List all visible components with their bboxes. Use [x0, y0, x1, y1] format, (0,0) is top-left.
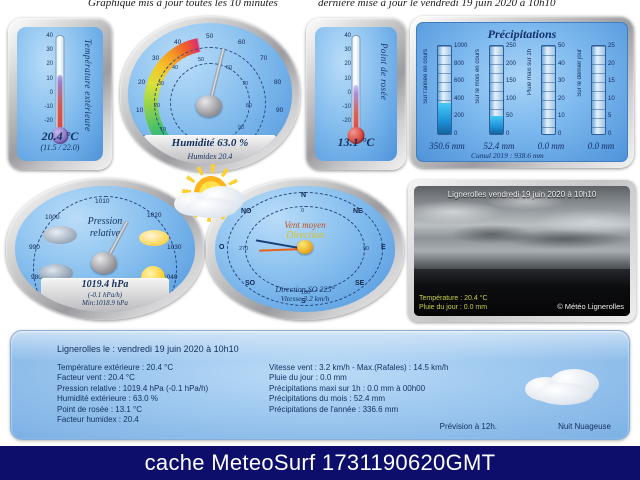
header-captions: Graphique mis à jour toutes les 10 minut…: [0, 0, 640, 12]
humidity-tick: 20: [138, 79, 145, 86]
summary-row: Point de rosée : 13.1 °C: [57, 405, 208, 415]
precip-value: 0.0 mm: [573, 141, 629, 151]
summary-row: Vitesse vent : 3.2 km/h - Max.(Rafales) …: [269, 363, 448, 373]
humidity-tick: 30: [152, 55, 159, 62]
summary-row: Précipitations maxi sur 1h : 0.0 mm à 00…: [269, 384, 448, 394]
precip-tube: [489, 45, 504, 135]
precip-value: 52.4 mm: [471, 141, 527, 151]
precip-tube: [541, 45, 556, 135]
precip-column-year: Sur l'année en cours 1000 800 600 400 20…: [423, 45, 471, 163]
cloud-icon: [186, 198, 238, 218]
temperature-gauge-panel[interactable]: 40 30 20 10 0 -10 -20 Température extéri…: [8, 18, 112, 170]
forecast-label: Prévision à 12h.: [440, 422, 497, 431]
webcam-image: Lignerolles vendredi 19 juin 2020 à 10h1…: [414, 186, 630, 316]
humidity-value: Humidité 63.0 %: [128, 137, 292, 149]
precipitation-panel[interactable]: Précipitations Sur l'année en cours 1000…: [410, 16, 634, 168]
humidity-inner-tick: 70: [242, 81, 248, 87]
humidity-needle-hub: [196, 95, 222, 117]
forecast-text: Nuit Nuageuse: [558, 422, 611, 431]
forecast-icon: [521, 361, 607, 413]
compass-degree: 90: [363, 246, 369, 252]
humidity-inner-tick: 60: [226, 65, 232, 71]
summary-row: Température extérieure : 20.4 °C: [57, 363, 208, 373]
temperature-mercury: [58, 75, 63, 131]
precip-column-label: Sur le mois en cours: [475, 49, 481, 104]
summary-row: Facteur vent : 20.4 °C: [57, 373, 208, 383]
summary-row: Pluie du jour : 0.0 mm: [269, 373, 448, 383]
compass-w: O: [219, 244, 224, 251]
webcam-temp-overlay: Température : 20.4 °C: [419, 295, 488, 302]
precip-subvalue: Cumul 2019 : 938.6 mm: [471, 151, 527, 160]
precip-scale: 250 200 150 100 50 0: [506, 43, 526, 149]
precip-value: 350.6 mm: [419, 141, 475, 151]
temperature-minmax: (11.5 / 22.0): [17, 143, 103, 152]
compass-degree: 270: [239, 246, 248, 252]
temperature-label: Température extérieure: [83, 39, 93, 132]
humidity-tick: 90: [276, 107, 283, 114]
humidity-tick: 50: [206, 33, 213, 40]
dewpoint-tube: [352, 35, 361, 133]
weather-condition-icon: [168, 166, 254, 224]
last-update-note: dernière mise à jour le vendredi 19 juin…: [318, 0, 555, 9]
summary-heading: Lignerolles le : vendredi 19 juin 2020 à…: [57, 344, 239, 354]
humidity-inner-tick: 90: [238, 125, 244, 131]
humidity-tick: 70: [260, 55, 267, 62]
humidity-tick: 40: [174, 39, 181, 46]
dewpoint-value: 13.1 °C: [315, 135, 397, 150]
compass-n: N: [301, 192, 306, 199]
humidex-value: Humidex 20.4: [128, 152, 292, 161]
humidity-tick: 60: [238, 39, 245, 46]
humidity-inner-tick: 10: [160, 127, 166, 133]
temperature-gauge-face: 40 30 20 10 0 -10 -20 Température extéri…: [17, 27, 103, 161]
summary-row: Pression relative : 1019.4 hPa (-0.1 hPa…: [57, 384, 208, 394]
humidity-inner-tick: 80: [246, 103, 252, 109]
graph-update-note: Graphique mis à jour toutes les 10 minut…: [88, 0, 278, 9]
temperature-scale: 40 30 20 10 0 -10 -20: [27, 33, 53, 132]
summary-row: Humidité extérieure : 63.0 %: [57, 394, 208, 404]
summary-row: Précipitations du mois : 52.4 mm: [269, 394, 448, 404]
summary-row: Facteur humidex : 20.4: [57, 415, 208, 425]
precip-column-month: Sur le mois en cours 250 200 150 100 50 …: [475, 45, 523, 163]
cloud-icon: [43, 226, 77, 244]
pressure-trend: (-0.1 hPa/h): [15, 291, 195, 299]
webcam-title: Lignerolles vendredi 19 juin 2020 à 10h1…: [414, 190, 630, 199]
summary-left-column: Température extérieure : 20.4 °C Facteur…: [57, 363, 208, 425]
dewpoint-gauge-face: 40 30 20 10 0 -10 -20 Point de rosée 13.…: [315, 27, 397, 161]
pressure-min: Min:1018.9 hPa: [15, 299, 195, 307]
summary-panel: Lignerolles le : vendredi 19 juin 2020 à…: [10, 330, 630, 440]
pressure-needle-hub: [91, 252, 117, 274]
pressure-tick: 1030: [167, 244, 181, 251]
humidity-inner-tick: 40: [172, 65, 178, 71]
wind-speed-value: Vitesse 3.2 km/h: [215, 294, 395, 303]
precip-column-label: Pluie maxi sur 1h: [527, 49, 533, 95]
dewpoint-mercury: [354, 85, 359, 131]
precip-value: 0.0 mm: [523, 141, 579, 151]
precip-tube: [591, 45, 606, 135]
compass-e: E: [381, 244, 386, 251]
precip-scale: 25 20 15 10 5 0: [608, 43, 628, 149]
temperature-tube: [56, 35, 65, 133]
sun-cloud-icon: [139, 230, 169, 246]
humidity-gauge-face: 0 10 20 30 40 50 60 70 80 90 100 10 20 3…: [128, 23, 292, 165]
wind-needle-hub: [297, 240, 313, 254]
cloud-icon: [535, 383, 593, 405]
dewpoint-label: Point de rosée: [379, 43, 389, 100]
temperature-value: 20.4 °C: [17, 129, 103, 144]
wind-direction-value: Direction SO 225°: [215, 285, 395, 294]
pressure-tick: 1010: [95, 198, 109, 205]
precip-column-hour: Pluie maxi sur 1h 50 40 30 20 10 0 0.0 m…: [527, 45, 575, 163]
precipitation-title: Précipitations: [417, 27, 627, 42]
webcam-panel[interactable]: Lignerolles vendredi 19 juin 2020 à 10h1…: [408, 180, 636, 322]
humidity-tick: 80: [274, 79, 281, 86]
precip-column-label: Sur l'année en cours: [423, 49, 429, 104]
pressure-value: 1019.4 hPa: [15, 279, 195, 290]
dewpoint-scale: 40 30 20 10 0 -10 -20: [325, 33, 351, 132]
summary-row: Précipitations de l'année : 336.6 mm: [269, 405, 448, 415]
cache-status-text: cache MeteoSurf 1731190620GMT: [145, 450, 496, 476]
humidity-inner-tick: 30: [158, 81, 164, 87]
humidity-inner-tick: 50: [198, 57, 204, 63]
webcam-rain-overlay: Pluie du jour : 0.0 mm: [419, 304, 487, 311]
precip-tube: [437, 45, 452, 135]
pressure-tick: 990: [29, 244, 40, 251]
webcam-credit: © Météo Lignerolles: [557, 302, 624, 311]
dewpoint-gauge-panel[interactable]: 40 30 20 10 0 -10 -20 Point de rosée 13.…: [306, 18, 406, 170]
compass-degree: 0: [301, 208, 304, 214]
cache-status-bar: cache MeteoSurf 1731190620GMT: [0, 446, 640, 480]
precip-column-label: Sur le dernier jour: [577, 49, 583, 97]
summary-right-column: Vitesse vent : 3.2 km/h - Max.(Rafales) …: [269, 363, 448, 415]
precip-column-day: Sur le dernier jour 25 20 15 10 5 0 0.0 …: [577, 45, 625, 163]
precip-scale: 50 40 30 20 10 0: [558, 43, 578, 149]
humidity-tick: 10: [136, 107, 143, 114]
humidity-gauge-panel[interactable]: 0 10 20 30 40 50 60 70 80 90 100 10 20 3…: [120, 16, 300, 172]
humidity-inner-tick: 20: [154, 103, 160, 109]
precipitation-face: Précipitations Sur l'année en cours 1000…: [416, 22, 628, 162]
compass-ne: NE: [353, 208, 363, 215]
precip-scale: 1000 800 600 400 200 0: [454, 43, 474, 149]
